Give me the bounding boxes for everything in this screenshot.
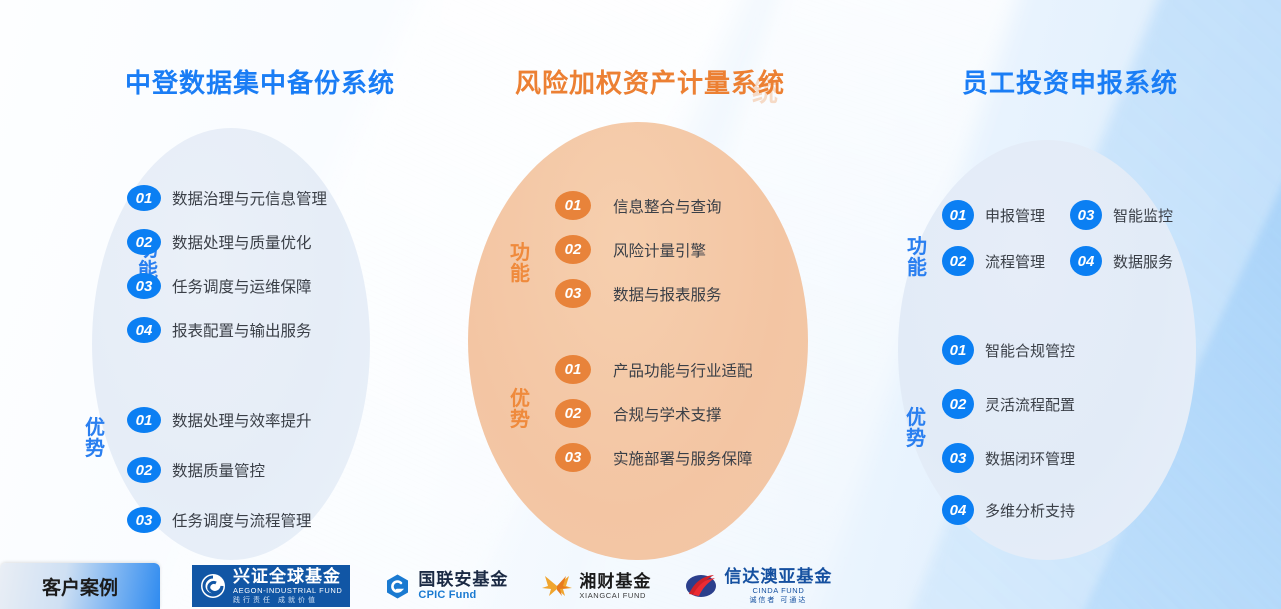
list-item[interactable]: 01 数据治理与元信息管理 [127, 185, 327, 211]
logo-cinda-fund[interactable]: 信达澳亚基金 CINDA FUND 诚信者 可通达 [685, 568, 832, 604]
list-item[interactable]: 03 数据与报表服务 [555, 279, 722, 308]
item-number-badge: 02 [555, 235, 591, 264]
column-2-section-2-label: 优势 [507, 389, 533, 431]
item-number-badge: 03 [1070, 200, 1102, 230]
list-item[interactable]: 01 产品功能与行业适配 [555, 355, 753, 384]
system-column-1: 中登数据集中备份系统 功能 01 数据治理与元信息管理 02 数据处理与质量优化… [60, 0, 460, 609]
system-column-2: 风险加权资产计量系统 功能 01 信息整合与查询 02 风险计量引擎 03 数据… [450, 0, 850, 609]
system-column-3: 员工投资申报系统 功能 01 申报管理 03 智能监控 02 流程管理 04 数… [870, 0, 1270, 609]
customer-case-tab-label: 客户案例 [42, 573, 118, 600]
logo-text: 兴证全球基金 AEGON-INDUSTRIAL FUND 践行责任 成就价值 [233, 568, 342, 604]
list-item[interactable]: 02 灵活流程配置 [942, 389, 1075, 419]
item-label: 数据闭环管理 [985, 448, 1075, 469]
column-1-advantage-list: 01 数据处理与效率提升 02 数据质量管控 03 任务调度与流程管理 [127, 407, 312, 551]
column-3-advantage-list: 01 智能合规管控 02 灵活流程配置 03 数据闭环管理 04 多维分析支持 [942, 335, 1075, 541]
customer-logo-strip: 兴证全球基金 AEGON-INDUSTRIAL FUND 践行责任 成就价值 国… [192, 565, 832, 607]
item-number-badge: 02 [555, 399, 591, 428]
item-label: 数据处理与质量优化 [172, 231, 312, 253]
item-number-badge: 01 [942, 200, 974, 230]
column-3-title: 员工投资申报系统 [870, 68, 1270, 99]
item-label: 报表配置与输出服务 [172, 319, 312, 341]
list-item[interactable]: 01 智能合规管控 [942, 335, 1075, 365]
item-label: 风险计量引擎 [613, 239, 706, 261]
item-number-badge: 01 [942, 335, 974, 365]
item-label: 合规与学术支撑 [613, 403, 722, 425]
list-item[interactable]: 03 数据闭环管理 [942, 443, 1075, 473]
ribbon-icon [685, 572, 717, 600]
item-number-badge: 03 [127, 273, 161, 299]
customer-case-tab[interactable]: 客户案例 [0, 563, 160, 609]
item-number-badge: 03 [555, 279, 591, 308]
item-label: 申报管理 [985, 205, 1045, 226]
item-label: 信息整合与查询 [613, 195, 722, 217]
item-number-badge: 02 [127, 229, 161, 255]
item-label: 产品功能与行业适配 [613, 359, 753, 381]
item-number-badge: 04 [127, 317, 161, 343]
item-number-badge: 03 [555, 443, 591, 472]
logo-text: 湘财基金 XIANGCAI FUND [579, 573, 651, 600]
column-3-section-2-label: 优势 [903, 408, 929, 450]
logo-name-cn: 湘财基金 [579, 573, 651, 590]
pinwheel-icon [542, 572, 572, 600]
spiral-icon [200, 573, 226, 599]
item-number-badge: 04 [942, 495, 974, 525]
list-item[interactable]: 03 任务调度与运维保障 [127, 273, 327, 299]
item-label: 任务调度与流程管理 [172, 509, 312, 531]
item-number-badge: 01 [555, 191, 591, 220]
column-1-title: 中登数据集中备份系统 [60, 68, 460, 99]
item-number-badge: 01 [555, 355, 591, 384]
list-item[interactable]: 01 信息整合与查询 [555, 191, 722, 220]
list-item[interactable]: 02 数据处理与质量优化 [127, 229, 327, 255]
item-number-badge: 03 [942, 443, 974, 473]
column-2-title: 风险加权资产计量系统 [450, 68, 850, 99]
logo-text: 国联安基金 CPIC Fund [418, 571, 508, 601]
list-item[interactable]: 03 任务调度与流程管理 [127, 507, 312, 533]
hexagon-g-icon [384, 573, 411, 600]
item-label: 智能合规管控 [985, 340, 1075, 361]
logo-slogan: 践行责任 成就价值 [233, 597, 342, 604]
list-item[interactable]: 01 数据处理与效率提升 [127, 407, 312, 433]
list-item[interactable]: 03 实施部署与服务保障 [555, 443, 753, 472]
list-item[interactable]: 02 合规与学术支撑 [555, 399, 753, 428]
logo-cpic-fund[interactable]: 国联安基金 CPIC Fund [384, 571, 508, 601]
item-number-badge: 02 [127, 457, 161, 483]
item-number-badge: 04 [1070, 246, 1102, 276]
item-label: 流程管理 [985, 251, 1045, 272]
logo-xiangcai-fund[interactable]: 湘财基金 XIANGCAI FUND [542, 572, 651, 600]
logo-name-cn: 国联安基金 [418, 571, 508, 588]
column-3-section-1-label: 功能 [904, 237, 930, 279]
logo-name-en: XIANGCAI FUND [579, 592, 651, 600]
column-2-advantage-list: 01 产品功能与行业适配 02 合规与学术支撑 03 实施部署与服务保障 [555, 355, 753, 487]
item-label: 数据服务 [1113, 251, 1173, 272]
list-item[interactable]: 01 申报管理 [942, 200, 1070, 230]
item-label: 数据与报表服务 [613, 283, 722, 305]
item-label: 多维分析支持 [985, 500, 1075, 521]
list-item[interactable]: 02 流程管理 [942, 246, 1070, 276]
column-2-title-ghost-character: 统 [752, 72, 778, 109]
logo-name-en: AEGON-INDUSTRIAL FUND [233, 587, 342, 595]
logo-name-cn: 信达澳亚基金 [724, 568, 832, 585]
item-label: 任务调度与运维保障 [172, 275, 312, 297]
item-number-badge: 02 [942, 389, 974, 419]
item-label: 灵活流程配置 [985, 394, 1075, 415]
item-number-badge: 01 [127, 185, 161, 211]
item-number-badge: 02 [942, 246, 974, 276]
list-item[interactable]: 02 风险计量引擎 [555, 235, 722, 264]
item-label: 实施部署与服务保障 [613, 447, 753, 469]
list-item[interactable]: 04 数据服务 [1070, 246, 1198, 276]
item-label: 数据质量管控 [172, 459, 265, 481]
logo-slogan: 诚信者 可通达 [724, 597, 832, 604]
list-item[interactable]: 04 报表配置与输出服务 [127, 317, 327, 343]
column-1-function-list: 01 数据治理与元信息管理 02 数据处理与质量优化 03 任务调度与运维保障 … [127, 185, 327, 361]
item-number-badge: 01 [127, 407, 161, 433]
slide-canvas: 中登数据集中备份系统 功能 01 数据治理与元信息管理 02 数据处理与质量优化… [0, 0, 1281, 609]
item-label: 数据处理与效率提升 [172, 409, 312, 431]
logo-name-cn: 兴证全球基金 [233, 568, 342, 585]
logo-name-en: CPIC Fund [418, 590, 508, 601]
list-item[interactable]: 02 数据质量管控 [127, 457, 312, 483]
logo-aegon-industrial-fund[interactable]: 兴证全球基金 AEGON-INDUSTRIAL FUND 践行责任 成就价值 [192, 565, 350, 607]
logo-text: 信达澳亚基金 CINDA FUND 诚信者 可通达 [724, 568, 832, 604]
column-2-function-list: 01 信息整合与查询 02 风险计量引擎 03 数据与报表服务 [555, 191, 722, 323]
column-1-section-2-label: 优势 [82, 418, 108, 460]
item-label: 数据治理与元信息管理 [172, 187, 327, 209]
item-number-badge: 03 [127, 507, 161, 533]
column-3-function-grid: 01 申报管理 03 智能监控 02 流程管理 04 数据服务 [942, 200, 1198, 292]
list-item[interactable]: 03 智能监控 [1070, 200, 1198, 230]
item-label: 智能监控 [1113, 205, 1173, 226]
list-item[interactable]: 04 多维分析支持 [942, 495, 1075, 525]
customer-case-bar: 客户案例 兴证全球基金 AEGON-INDUSTRIAL FUND 践行责任 成… [0, 563, 1281, 609]
logo-name-en: CINDA FUND [724, 587, 832, 595]
column-2-section-1-label: 功能 [507, 243, 533, 285]
